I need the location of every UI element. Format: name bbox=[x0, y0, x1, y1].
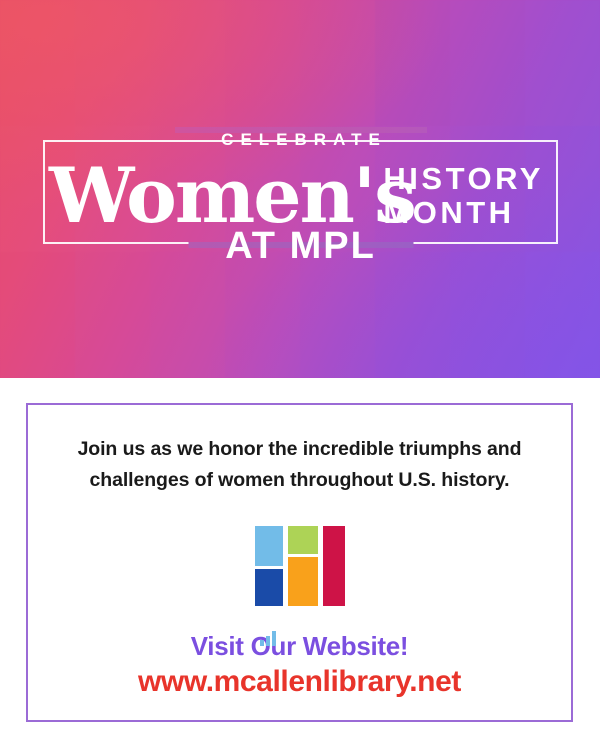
card-blurb: Join us as we honor the incredible trium… bbox=[58, 434, 541, 496]
headline-line-history: HISTORY bbox=[383, 161, 544, 196]
card-blurb-line-2: challenges of women throughout U.S. hist… bbox=[58, 465, 541, 496]
logo-block-orange bbox=[288, 557, 318, 606]
headline-script: Women's bbox=[49, 158, 415, 234]
logo-block-light-blue bbox=[255, 526, 283, 566]
library-logo-icon bbox=[255, 524, 345, 608]
website-link[interactable]: www.mcallenlibrary.net bbox=[28, 664, 571, 700]
logo-block-crimson bbox=[323, 526, 345, 606]
logo-block-green bbox=[288, 526, 318, 554]
info-card: Join us as we honor the incredible trium… bbox=[26, 403, 573, 722]
eyebrow-text: CELEBRATE bbox=[202, 128, 399, 152]
headline-history-month: HISTORY MONTH bbox=[383, 163, 544, 228]
logo-bar-chart-icon bbox=[260, 631, 278, 646]
eyebrow-row: CELEBRATE bbox=[43, 128, 558, 152]
logo-block-dark-blue bbox=[255, 569, 283, 606]
card-blurb-line-1: Join us as we honor the incredible trium… bbox=[58, 434, 541, 465]
headline-line-month: MONTH bbox=[383, 197, 544, 228]
cta-block: Visit Our Website! www.mcallenlibrary.ne… bbox=[28, 630, 571, 700]
cta-label: Visit Our Website! bbox=[28, 630, 571, 662]
title-lockup: CELEBRATE Women's HISTORY MONTH AT MPL bbox=[43, 140, 558, 244]
hero-banner: CELEBRATE Women's HISTORY MONTH AT MPL bbox=[0, 0, 600, 378]
